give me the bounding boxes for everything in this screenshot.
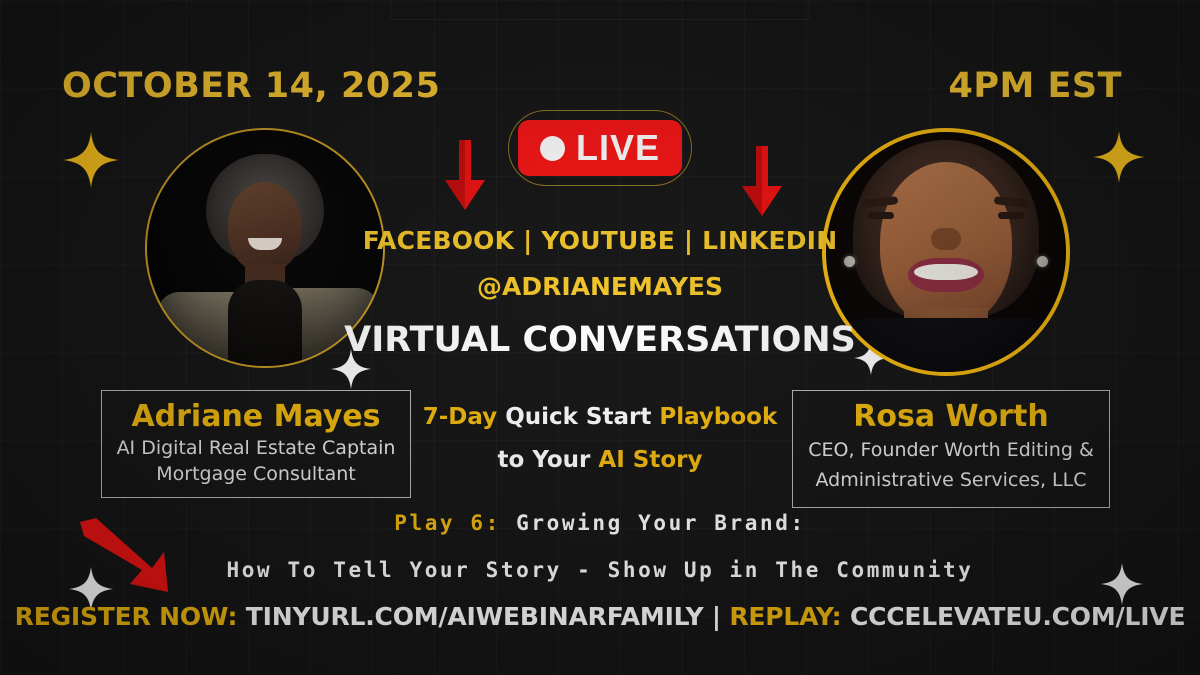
subtitle-seg-playbook: Playbook (659, 404, 777, 430)
play-number-label: Play 6: (394, 511, 501, 535)
cta-line[interactable]: REGISTER NOW: TINYURL.COM/AIWEBINARFAMIL… (0, 602, 1200, 631)
replay-label: REPLAY: (729, 602, 841, 631)
live-label: LIVE (576, 127, 660, 169)
speaker-role-line: Mortgage Consultant (112, 461, 400, 487)
social-handle: @ADRIANEMAYES (0, 272, 1200, 301)
subtitle-seg-aistory: AI Story (598, 447, 702, 473)
record-dot-icon (540, 136, 565, 161)
red-down-arrow-icon (740, 146, 784, 218)
event-time: 4PM EST (948, 66, 1122, 106)
register-now-label: REGISTER NOW: (15, 602, 238, 631)
subtitle-seg-toyour: to Your (498, 447, 599, 473)
episode-play-line: Play 6: Growing Your Brand: (0, 511, 1200, 535)
event-date: OCTOBER 14, 2025 (62, 66, 440, 106)
speaker-role-line: CEO, Founder Worth Editing & (803, 435, 1099, 465)
speaker-card-rosa-worth: Rosa Worth CEO, Founder Worth Editing & … (792, 390, 1110, 508)
speaker-name: Adriane Mayes (112, 399, 400, 435)
show-title: VIRTUAL CONVERSATIONS (0, 320, 1200, 360)
play-topic-label: Growing Your Brand: (501, 511, 806, 535)
grid-top-frame (390, 0, 810, 20)
subtitle-seg-quickstart: Quick Start (505, 404, 659, 430)
red-down-arrow-icon (443, 140, 487, 212)
register-url[interactable]: TINYURL.COM/AIWEBINARFAMILY (237, 602, 712, 631)
live-pill: LIVE (518, 120, 682, 176)
subtitle-seg-7day: 7-Day (423, 404, 505, 430)
episode-headline: How To Tell Your Story - Show Up in The … (0, 558, 1200, 582)
speaker-card-adriane-mayes: Adriane Mayes AI Digital Real Estate Cap… (101, 390, 411, 498)
speaker-role-line: Administrative Services, LLC (803, 465, 1099, 495)
cta-separator: | (712, 602, 729, 631)
live-badge: LIVE (508, 110, 692, 186)
broadcast-platforms: FACEBOOK | YOUTUBE | LINKEDIN (0, 226, 1200, 255)
replay-url[interactable]: CCCELEVATEU.COM/LIVE (841, 602, 1185, 631)
gold-sparkle-icon (62, 131, 120, 194)
speaker-role-line: AI Digital Real Estate Captain (112, 435, 400, 461)
gold-sparkle-icon (1092, 130, 1146, 189)
speaker-name: Rosa Worth (803, 399, 1099, 435)
webinar-promo-poster: OCTOBER 14, 2025 4PM EST (0, 0, 1200, 675)
